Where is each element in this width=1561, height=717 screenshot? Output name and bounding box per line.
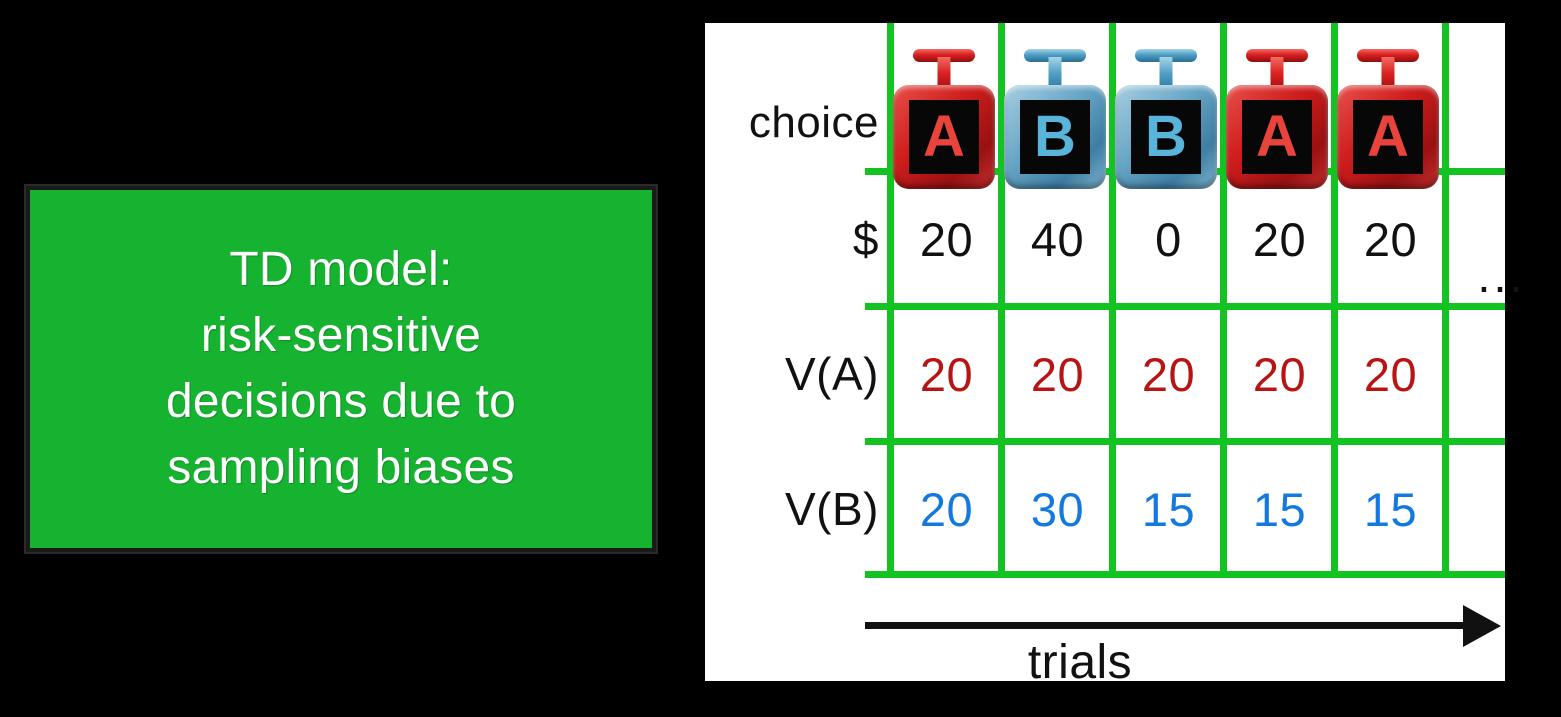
money-cell-5: 20	[1335, 175, 1446, 303]
value-a-cell-2: 20	[1002, 310, 1113, 438]
money-cell-4: 20	[1224, 175, 1335, 303]
td-model-callout-box: TD model: risk-sensitive decisions due t…	[26, 186, 656, 552]
choice-icon-trial-5[interactable]: A	[1335, 49, 1441, 191]
row-label-value-a: V(A)	[705, 310, 887, 438]
choice-letter-3: B	[1131, 100, 1201, 174]
callout-line-3: decisions due to	[166, 369, 516, 435]
choice-icon-trial-2[interactable]: B	[1002, 49, 1108, 191]
money-cell-2: 40	[1002, 175, 1113, 303]
value-a-cell-4: 20	[1224, 310, 1335, 438]
grid-hline-va-vb	[865, 438, 1505, 445]
trials-arrow-line	[865, 622, 1469, 629]
row-label-choice: choice	[705, 83, 887, 163]
value-b-cell-1: 20	[891, 445, 1002, 573]
trials-table-panel: choice $ V(A) V(B) A B B	[705, 23, 1505, 681]
money-cell-3: 0	[1113, 175, 1224, 303]
plunger-body-icon: A	[893, 85, 995, 189]
trials-arrow-head-icon	[1463, 605, 1501, 647]
choice-icon-trial-3[interactable]: B	[1113, 49, 1219, 191]
row-label-money: $	[705, 175, 887, 303]
callout-line-2: risk-sensitive	[201, 303, 481, 369]
plunger-body-icon: B	[1004, 85, 1106, 189]
choice-letter-4: A	[1242, 100, 1312, 174]
choice-icon-trial-1[interactable]: A	[891, 49, 997, 191]
choice-letter-2: B	[1020, 100, 1090, 174]
value-b-cell-5: 15	[1335, 445, 1446, 573]
plunger-body-icon: A	[1226, 85, 1328, 189]
choice-icon-trial-4[interactable]: A	[1224, 49, 1330, 191]
plunger-body-icon: A	[1337, 85, 1439, 189]
grid-hline-money-va	[865, 303, 1505, 310]
value-a-cell-5: 20	[1335, 310, 1446, 438]
value-b-cell-3: 15	[1113, 445, 1224, 573]
plunger-body-icon: B	[1115, 85, 1217, 189]
value-b-cell-2: 30	[1002, 445, 1113, 573]
value-a-cell-3: 20	[1113, 310, 1224, 438]
value-b-cell-4: 15	[1224, 445, 1335, 573]
trials-axis-arrow-icon	[865, 615, 1501, 635]
money-cell-1: 20	[891, 175, 1002, 303]
callout-line-4: sampling biases	[167, 435, 514, 501]
choice-letter-1: A	[909, 100, 979, 174]
row-label-value-b: V(B)	[705, 445, 887, 573]
value-a-cell-1: 20	[891, 310, 1002, 438]
choice-letter-5: A	[1353, 100, 1423, 174]
trials-axis-label: trials	[865, 635, 1295, 690]
callout-line-1: TD model:	[229, 237, 452, 303]
money-cell-continuation: ...	[1446, 175, 1557, 309]
